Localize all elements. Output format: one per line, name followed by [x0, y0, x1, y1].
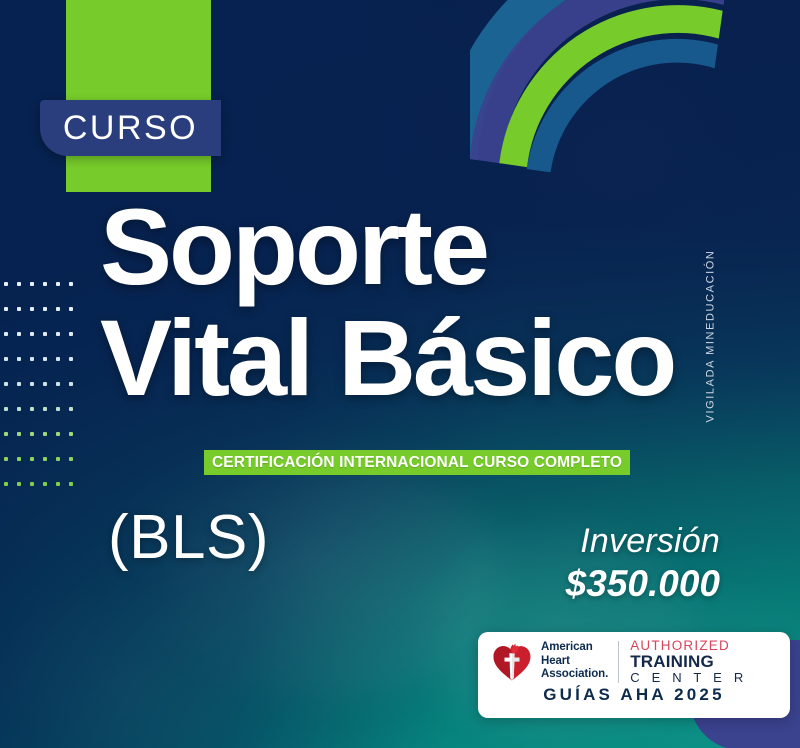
aha-name-line-1: American: [541, 641, 608, 655]
course-poster: CURSO Soporte Vital Básico CERTIFICACIÓN…: [0, 0, 800, 748]
dot-grid-decoration: [4, 282, 82, 507]
price-label: Inversión: [566, 522, 720, 561]
aha-heart-torch-icon: [490, 640, 534, 684]
card-divider: [618, 641, 619, 683]
aha-name-line-3: Association.: [541, 668, 608, 682]
training-label: TRAINING: [630, 653, 747, 670]
certification-banner: CERTIFICACIÓN INTERNACIONAL CURSO COMPLE…: [204, 450, 630, 475]
aha-organization-name: American Heart Association.: [541, 641, 608, 682]
aha-card-top-row: American Heart Association. AUTHORIZED T…: [478, 632, 790, 684]
aha-authorized-training-center-card: American Heart Association. AUTHORIZED T…: [478, 632, 790, 718]
course-acronym: (BLS): [108, 502, 269, 573]
accreditation-vertical-text: VIGILADA MINEDUCACIÓN: [705, 249, 717, 424]
aha-guidelines-label: GUÍAS AHA 2025: [478, 685, 790, 705]
price-amount: $350.000: [566, 563, 720, 605]
curso-badge: CURSO: [40, 100, 221, 156]
price-block: Inversión $350.000: [566, 522, 720, 605]
curso-badge-label: CURSO: [63, 109, 198, 148]
title-line-2: Vital Básico: [100, 307, 674, 410]
center-label: C E N T E R: [630, 671, 747, 684]
authorized-label: AUTHORIZED: [630, 639, 747, 653]
aha-name-line-2: Heart: [541, 655, 608, 669]
certification-banner-text: CERTIFICACIÓN INTERNACIONAL CURSO COMPLE…: [212, 454, 622, 472]
green-accent-block: [66, 0, 211, 192]
title-line-1: Soporte: [100, 196, 674, 299]
headline-group: Soporte Vital Básico: [100, 196, 674, 409]
authorized-training-center-block: AUTHORIZED TRAINING C E N T E R: [630, 639, 747, 685]
